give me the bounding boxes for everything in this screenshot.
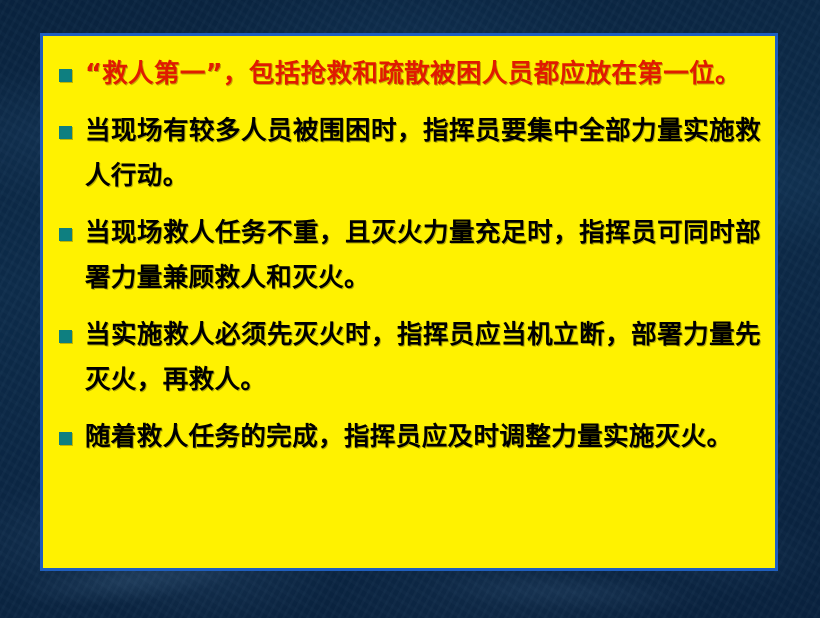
square-bullet-icon [59,126,72,139]
bullet-list: “救人第一”，包括抢救和疏散被困人员都应放在第一位。 当现场有较多人员被围困时，… [51,52,761,460]
bullet-list-item: 当现场救人任务不重，且灭火力量充足时，指挥员可同时部署力量兼顾救人和灭火。 [51,211,761,301]
bullet-text: 当现场有较多人员被围困时，指挥员要集中全部力量实施救人行动。 [85,109,761,199]
presentation-slide: “救人第一”，包括抢救和疏散被困人员都应放在第一位。 当现场有较多人员被围困时，… [0,0,820,618]
square-bullet-icon [59,69,72,82]
background-swirl-decoration [419,564,721,618]
bullet-list-item: 随着救人任务的完成，指挥员应及时调整力量实施灭火。 [51,415,761,460]
square-bullet-icon [59,330,72,343]
bullet-text: 当实施救人必须先灭火时，指挥员应当机立断，部署力量先灭火，再救人。 [85,313,761,403]
square-bullet-icon [59,432,72,445]
bullet-text: 随着救人任务的完成，指挥员应及时调整力量实施灭火。 [85,415,761,460]
bullet-list-item: 当实施救人必须先灭火时，指挥员应当机立断，部署力量先灭火，再救人。 [51,313,761,403]
bullet-text: “救人第一”，包括抢救和疏散被困人员都应放在第一位。 [85,52,761,97]
bullet-list-item: 当现场有较多人员被围困时，指挥员要集中全部力量实施救人行动。 [51,109,761,199]
bullet-list-item: “救人第一”，包括抢救和疏散被困人员都应放在第一位。 [51,52,761,97]
bullet-text: 当现场救人任务不重，且灭火力量充足时，指挥员可同时部署力量兼顾救人和灭火。 [85,211,761,301]
content-panel: “救人第一”，包括抢救和疏散被困人员都应放在第一位。 当现场有较多人员被围困时，… [40,33,778,571]
square-bullet-icon [59,228,72,241]
